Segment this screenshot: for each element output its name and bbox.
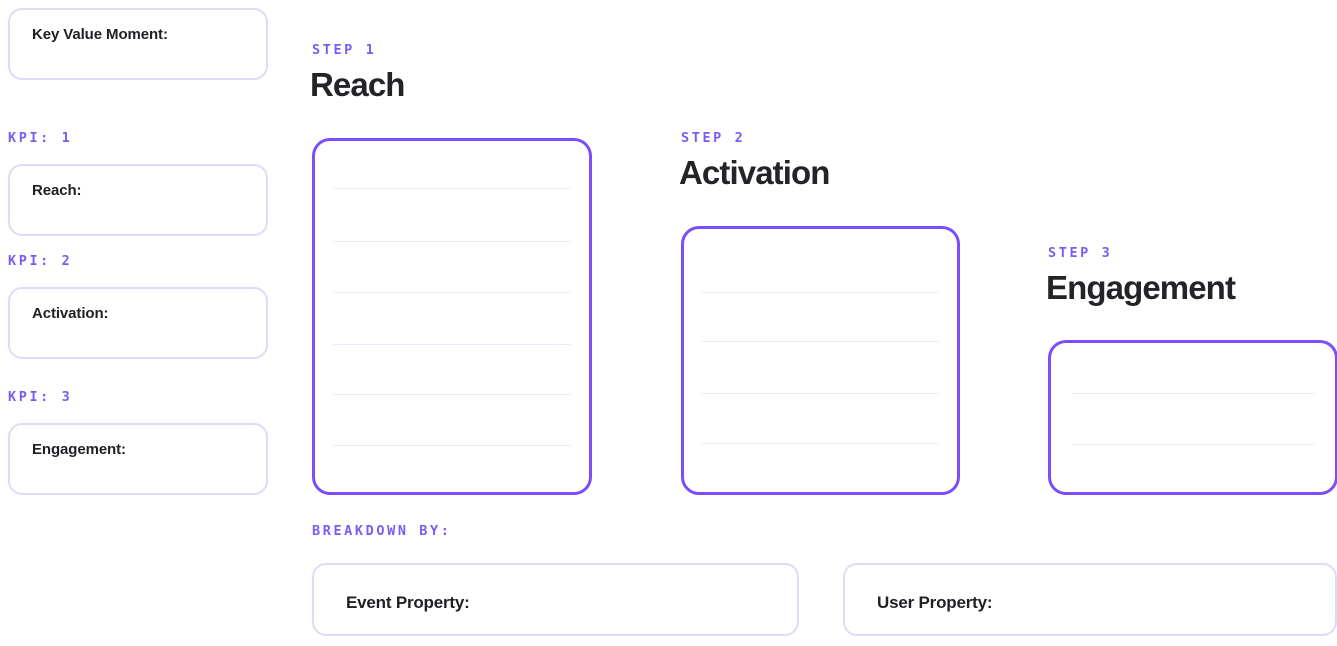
rule-line bbox=[333, 292, 571, 293]
key-value-moment-label: Key Value Moment: bbox=[32, 26, 168, 43]
kpi-3-tag: KPI: 3 bbox=[8, 389, 72, 405]
step-3-title: Engagement bbox=[1046, 269, 1235, 307]
rule-line bbox=[1071, 393, 1315, 394]
rule-line bbox=[1071, 444, 1315, 445]
kpi-2-box[interactable]: Activation: bbox=[8, 287, 268, 359]
kpi-1-box[interactable]: Reach: bbox=[8, 164, 268, 236]
breakdown-by-tag: BREAKDOWN BY: bbox=[312, 523, 451, 539]
step-2-tag: STEP 2 bbox=[681, 130, 745, 146]
kpi-2-label: Activation: bbox=[32, 305, 108, 322]
kpi-1-label: Reach: bbox=[32, 182, 81, 199]
rule-line bbox=[702, 341, 939, 342]
rule-line bbox=[333, 445, 571, 446]
step-1-tag: STEP 1 bbox=[312, 42, 376, 58]
key-value-moment-box[interactable]: Key Value Moment: bbox=[8, 8, 268, 80]
kpi-1-tag: KPI: 1 bbox=[8, 130, 72, 146]
rule-line bbox=[333, 394, 571, 395]
user-property-box[interactable]: User Property: bbox=[843, 563, 1337, 636]
user-property-label: User Property: bbox=[877, 593, 992, 613]
step-3-tag: STEP 3 bbox=[1048, 245, 1112, 261]
step-1-title: Reach bbox=[310, 66, 405, 104]
event-property-box[interactable]: Event Property: bbox=[312, 563, 799, 636]
step-2-note-card[interactable] bbox=[681, 226, 960, 495]
step-2-title: Activation bbox=[679, 154, 830, 192]
step-1-note-card[interactable] bbox=[312, 138, 592, 495]
rule-line bbox=[333, 344, 571, 345]
rule-line bbox=[702, 393, 939, 394]
rule-line bbox=[702, 443, 939, 444]
rule-line bbox=[702, 292, 939, 293]
rule-line bbox=[333, 188, 571, 189]
event-property-label: Event Property: bbox=[346, 593, 470, 613]
rule-line bbox=[333, 241, 571, 242]
kpi-3-box[interactable]: Engagement: bbox=[8, 423, 268, 495]
step-3-note-card[interactable] bbox=[1048, 340, 1337, 495]
kpi-3-label: Engagement: bbox=[32, 441, 126, 458]
kpi-2-tag: KPI: 2 bbox=[8, 253, 72, 269]
